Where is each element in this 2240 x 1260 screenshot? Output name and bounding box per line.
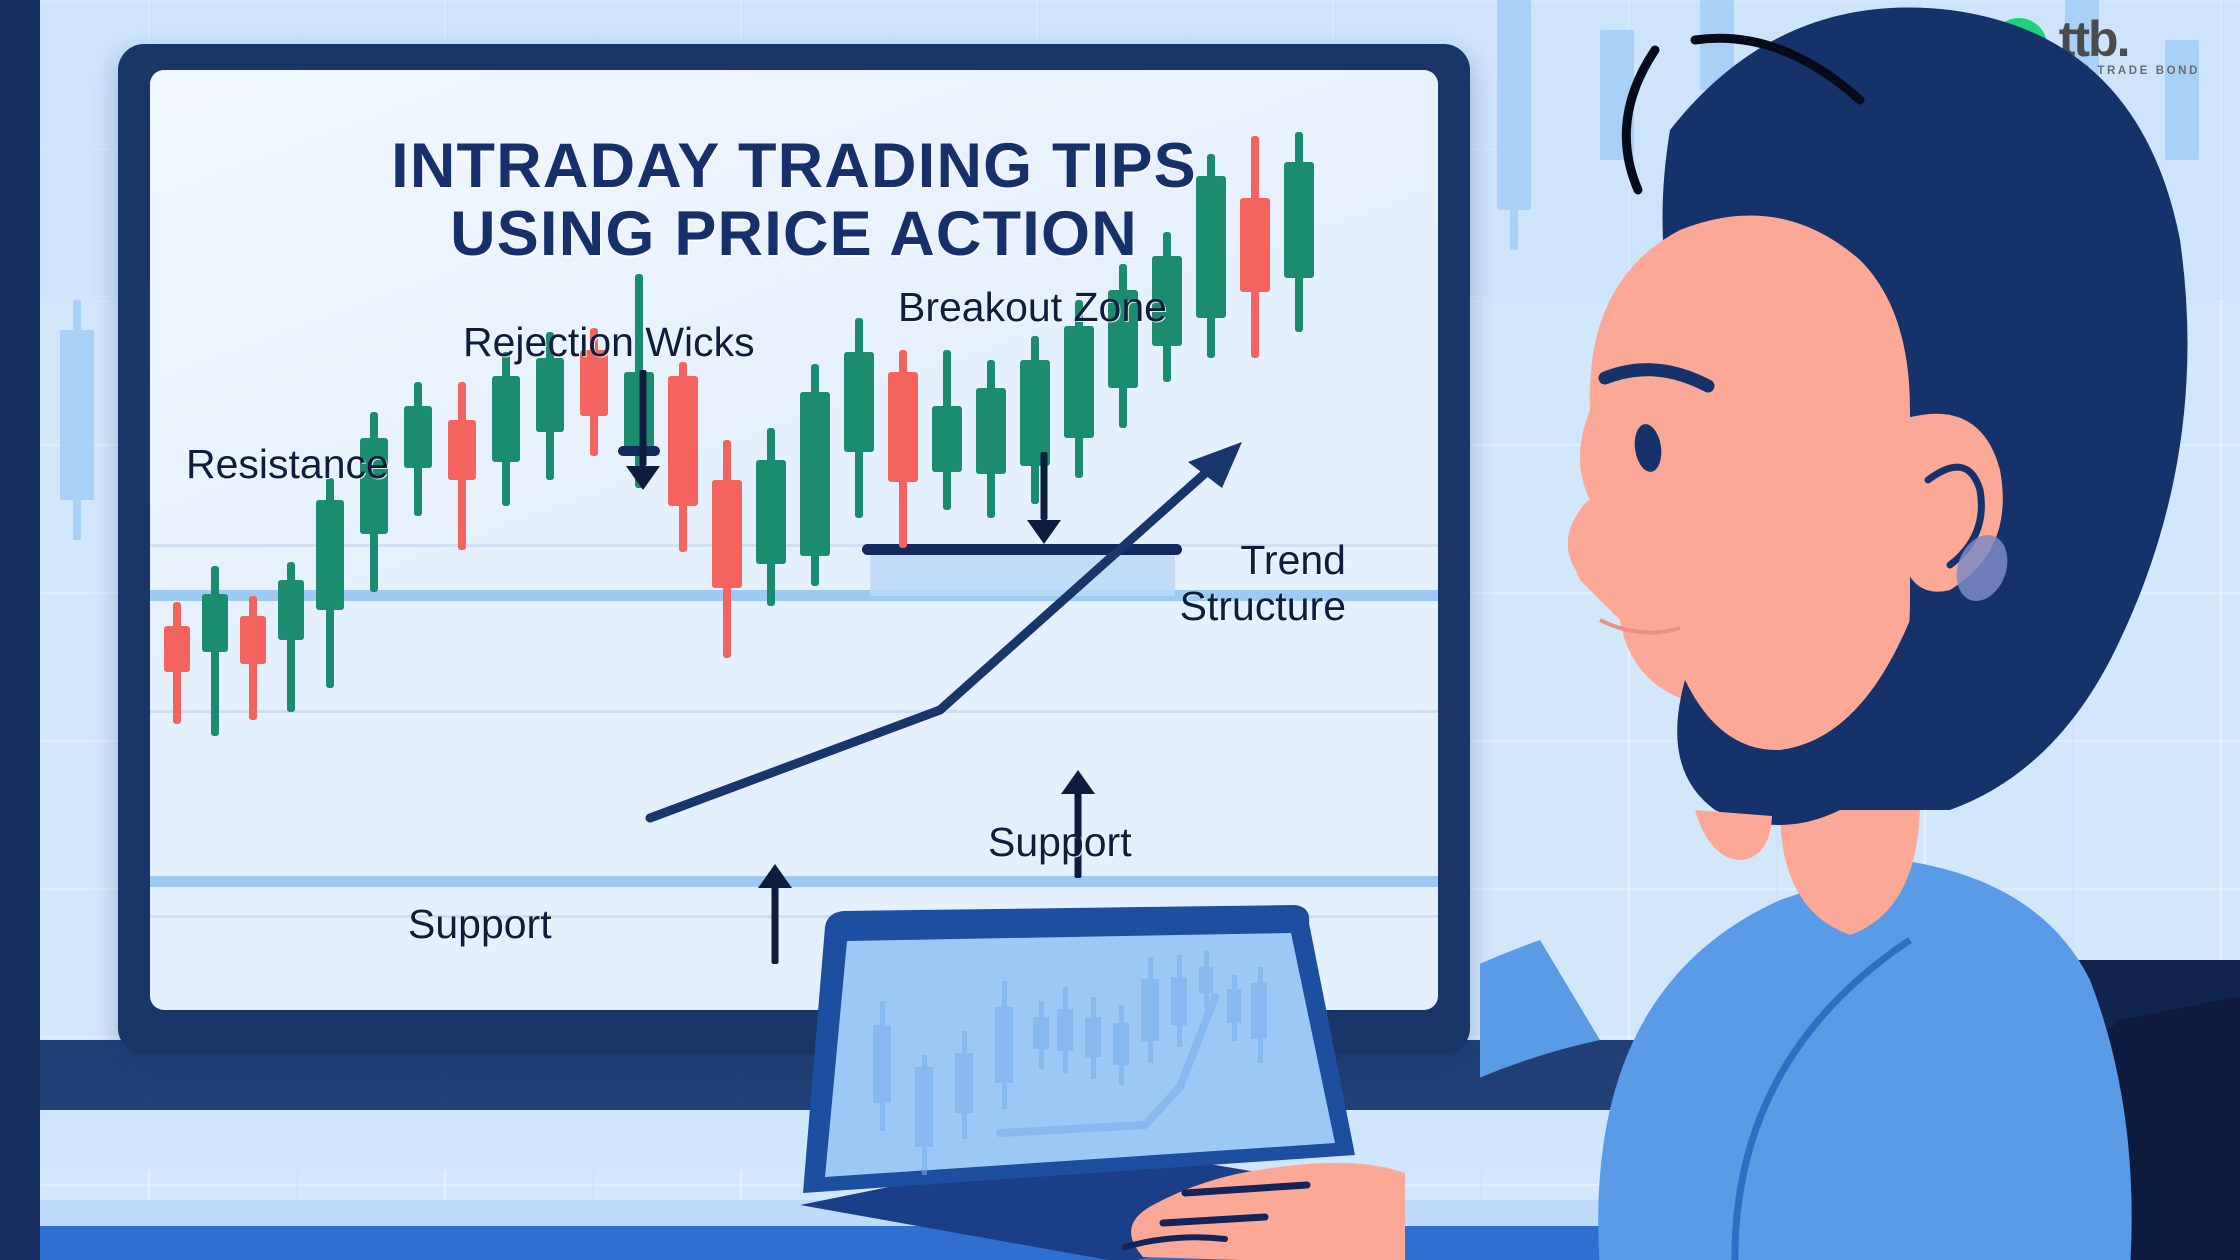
person-illustration [1480, 0, 2240, 1260]
candle [404, 406, 432, 492]
candle [1284, 162, 1314, 286]
gridline-mid [150, 710, 1438, 713]
support-lower-arrow [755, 864, 795, 964]
label-rejection-wicks: Rejection Wicks [463, 320, 755, 366]
label-support-mid: Support [988, 820, 1132, 866]
candle [668, 376, 698, 516]
page-frame-left [0, 0, 40, 1260]
candle [844, 352, 874, 462]
candlestick-chart: Resistance Rejection Wicks Breakout Zone… [150, 70, 1438, 1010]
chin-highlight [1695, 810, 1772, 860]
candle [712, 480, 742, 606]
candle [240, 616, 266, 712]
whiteboard-surface: INTRADAY TRADING TIPS USING PRICE ACTION [150, 70, 1438, 1010]
candle [888, 372, 918, 498]
background-candle-wick [73, 300, 81, 540]
candle [202, 594, 228, 724]
candle [1196, 176, 1226, 326]
forearm [1480, 940, 1600, 1160]
label-breakout-zone: Breakout Zone [898, 285, 1167, 331]
label-resistance: Resistance [186, 442, 389, 488]
candle [448, 420, 476, 500]
laptop-svg [795, 905, 1405, 1260]
candle [932, 406, 962, 482]
candle [316, 500, 344, 650]
candle [756, 460, 786, 570]
candle [536, 358, 564, 452]
breakout-zone-arrow [1024, 452, 1064, 544]
label-trend-structure: Trend Structure [1036, 538, 1346, 630]
person-svg [1480, 0, 2240, 1260]
rejection-wicks-arrow [623, 370, 663, 490]
label-trend-structure-line1: Trend [1036, 538, 1346, 584]
candle [278, 580, 304, 700]
candle [492, 376, 520, 482]
whiteboard-frame: INTRADAY TRADING TIPS USING PRICE ACTION [118, 44, 1470, 1054]
label-support-lower: Support [408, 902, 552, 948]
candle [1064, 326, 1094, 446]
candle [1240, 198, 1270, 302]
candle [164, 626, 190, 712]
label-trend-structure-line2: Structure [1036, 584, 1346, 630]
candle [800, 392, 830, 562]
poster-canvas: ttb. THE TRADE BOND INTRADAY TRADING TIP… [0, 0, 2240, 1260]
candle [976, 388, 1006, 484]
laptop[interactable] [795, 905, 1405, 1260]
hair-strand-1 [1626, 50, 1655, 190]
